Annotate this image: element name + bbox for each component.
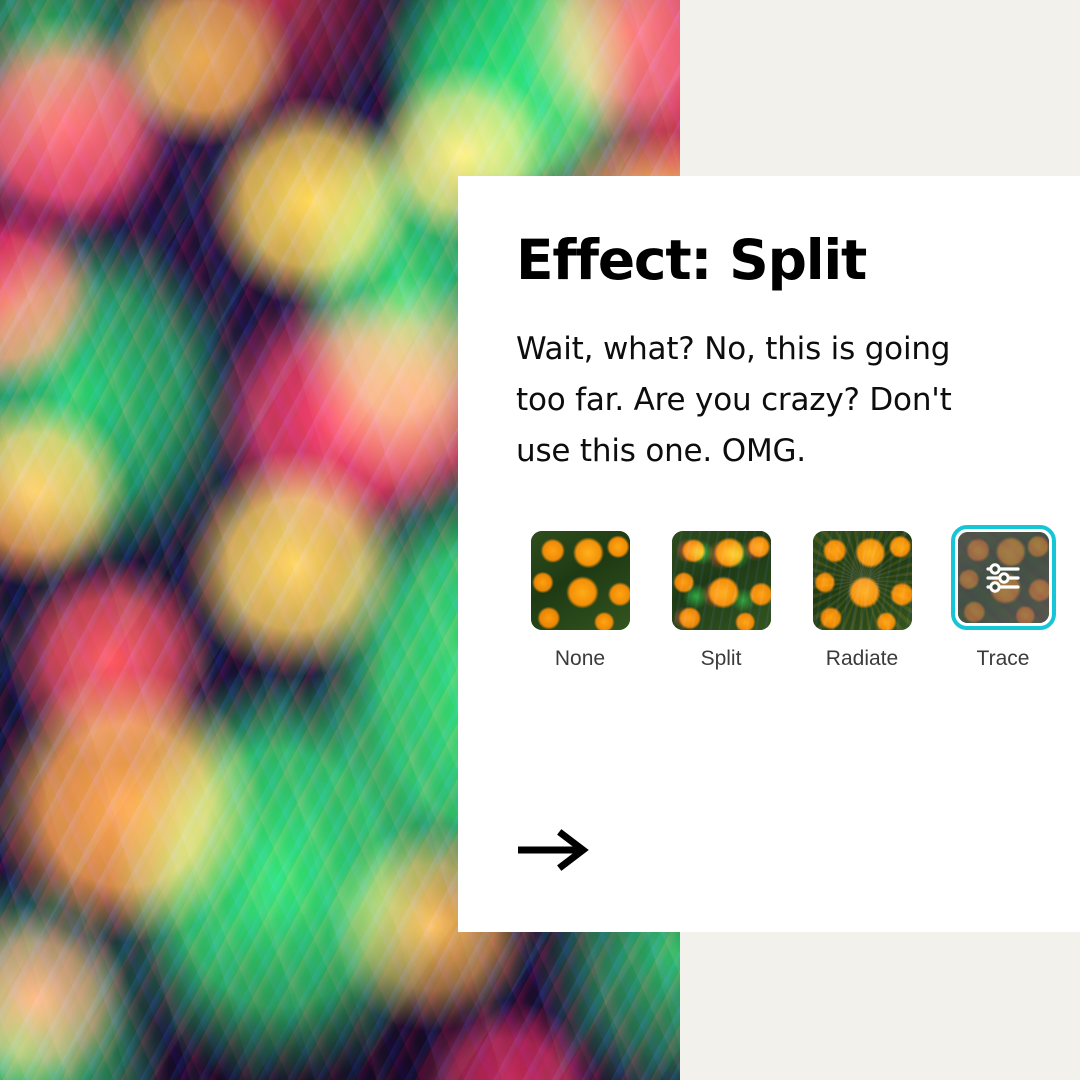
effect-thumbnail-radiate[interactable]: [813, 531, 912, 630]
screen: Effect: Split Wait, what? No, this is go…: [0, 0, 1080, 1080]
sliders-icon: [982, 557, 1024, 599]
thumb-layer-base: [531, 531, 630, 630]
effect-option-radiate[interactable]: Radiate: [802, 531, 922, 671]
thumbnail-image-none: [531, 531, 630, 630]
effect-option-trace[interactable]: Trace: [943, 531, 1063, 671]
effect-label-split: Split: [701, 647, 742, 671]
effect-thumbnail-split[interactable]: [672, 531, 771, 630]
effect-thumbnail-trace[interactable]: [951, 525, 1056, 630]
arrow-right-icon[interactable]: [516, 829, 592, 871]
effect-label-none: None: [555, 647, 605, 671]
effect-thumbnail-none[interactable]: [531, 531, 630, 630]
thumbnail-image-split: [672, 531, 771, 630]
thumbnail-image-radiate: [813, 531, 912, 630]
info-card: Effect: Split Wait, what? No, this is go…: [458, 176, 1080, 932]
thumb-layer-blue-ghost: [672, 531, 771, 630]
effect-label-trace: Trace: [977, 647, 1030, 671]
effect-option-none[interactable]: None: [520, 531, 640, 671]
description-text: Wait, what? No, this is going too far. A…: [516, 324, 996, 477]
effect-option-split[interactable]: Split: [661, 531, 781, 671]
effect-picker: None Split: [520, 531, 1063, 671]
page-title: Effect: Split: [516, 232, 866, 290]
thumb-layer-blue-ghost: [813, 531, 912, 630]
effect-label-radiate: Radiate: [826, 647, 898, 671]
